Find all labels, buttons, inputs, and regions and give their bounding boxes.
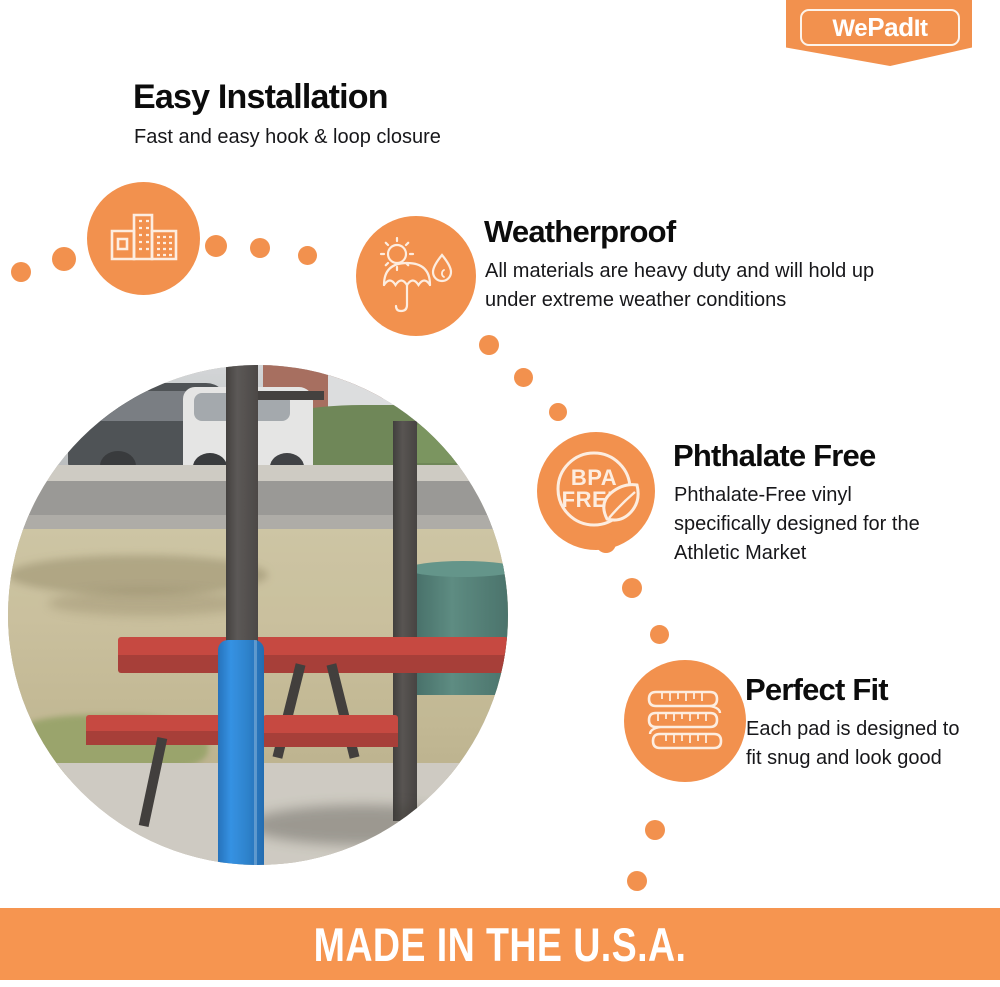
logo-outline-box: WePadIt [800,9,960,46]
trail-dot [549,403,567,421]
brand-logo: WePadIt [786,0,972,66]
feature-desc-easy-installation: Fast and easy hook & loop closure [134,124,564,150]
trail-dot [627,871,647,891]
made-in-usa-text: MADE IN THE U.S.A. [314,917,687,972]
product-photo [8,365,508,865]
trail-dot [298,246,317,265]
trail-dot [250,238,270,258]
trail-dot [514,368,533,387]
trail-dot [596,533,616,553]
feature-desc-weatherproof: All materials are heavy duty and will ho… [485,257,910,315]
sun-umbrella-raindrop-icon [356,216,476,336]
trail-dot [622,578,642,598]
trail-dot [11,262,31,282]
measuring-tape-icon [624,660,746,782]
logo-text-we: We [832,15,867,42]
feature-desc-perfect-fit: Each pad is designed to fit snug and loo… [746,715,976,773]
feature-desc-phthalate-free: Phthalate-Free vinyl specifically design… [674,481,939,568]
feature-title-phthalate-free: Phthalate Free [673,438,875,474]
product-infographic: WePadIt Easy Installation Fast and easy … [0,0,1000,987]
building-installation-icon [87,182,200,295]
feature-title-weatherproof: Weatherproof [484,214,675,250]
feature-title-easy-installation: Easy Installation [133,78,388,117]
made-in-usa-banner: MADE IN THE U.S.A. [0,908,1000,980]
trail-dot [650,625,669,644]
bpa-free-leaf-icon: BPA FREE [537,432,655,550]
logo-text-pad: Pad [867,12,913,42]
feature-title-perfect-fit: Perfect Fit [745,672,888,708]
trail-dot [479,335,499,355]
logo-text-it: It [914,15,928,42]
trail-dot [52,247,76,271]
logo-text: WePadIt [832,14,927,41]
trail-dot [205,235,227,257]
trail-dot [645,820,665,840]
